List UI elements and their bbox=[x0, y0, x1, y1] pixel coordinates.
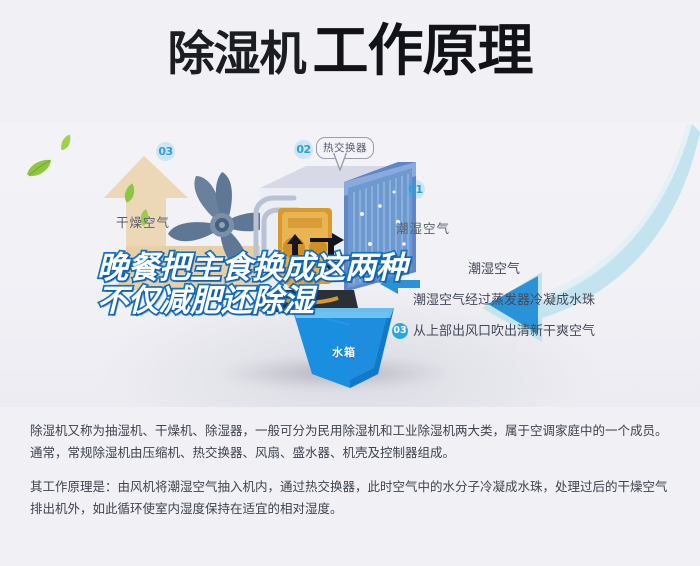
badge-01: 01 bbox=[406, 180, 425, 199]
leaf-icon bbox=[26, 158, 52, 178]
overlay-headline-line1: 晚餐把主食换成这两种 bbox=[97, 250, 407, 286]
list-item: 03从上部出风口吹出清新干爽空气 bbox=[392, 316, 595, 347]
caption-dry-air: 干燥空气 bbox=[116, 212, 170, 231]
step-number: 03 bbox=[392, 323, 408, 339]
step-text: 潮湿空气经过蒸发器冷凝成水珠 bbox=[413, 293, 595, 308]
page-title: 除湿机工作原理 bbox=[0, 24, 700, 80]
overlay-headline-line2: 不仅减肥还除湿 bbox=[97, 285, 407, 318]
page-title-part1: 除湿机 bbox=[168, 27, 306, 82]
caption-humid-air: 潮湿空气 bbox=[396, 218, 450, 237]
page-root: 除湿机工作原理 bbox=[0, 0, 700, 566]
body-paragraph-2: 其工作原理是：由风机将潮湿空气抽入机内，通过热交换器，此时空气中的水分子冷凝成水… bbox=[30, 476, 678, 520]
badge-03: 03 bbox=[156, 142, 175, 161]
body-paragraph-2-text: 由风机将潮湿空气抽入机内，通过热交换器，此时空气中的水分子冷凝成水珠，处理过后的… bbox=[30, 479, 668, 516]
page-title-part2: 工作原理 bbox=[313, 19, 533, 84]
badge-02: 02 bbox=[294, 140, 313, 159]
step-text: 从上部出风口吹出清新干爽空气 bbox=[413, 324, 595, 339]
step-text: 潮湿空气 bbox=[468, 262, 520, 277]
list-item: 01潮湿空气 bbox=[447, 254, 595, 285]
list-item: 02潮湿空气经过蒸发器冷凝成水珠 bbox=[392, 285, 595, 316]
water-tank-label: 水箱 bbox=[332, 344, 356, 360]
overlay-headline: 晚餐把主食换成这两种 不仅减肥还除湿 bbox=[97, 252, 407, 318]
body-copy: 除湿机又称为抽湿机、干燥机、除湿器，一般可分为民用除湿机和工业除湿机两大类，属于… bbox=[30, 420, 678, 532]
process-steps-list: 01潮湿空气 02潮湿空气经过蒸发器冷凝成水珠 03从上部出风口吹出清新干爽空气 bbox=[392, 254, 595, 347]
body-paragraph-1: 除湿机又称为抽湿机、干燥机、除湿器，一般可分为民用除湿机和工业除湿机两大类，属于… bbox=[30, 420, 678, 464]
body-paragraph-2-lead: 其工作原理是： bbox=[30, 479, 118, 494]
callout-stem-icon bbox=[333, 153, 347, 171]
